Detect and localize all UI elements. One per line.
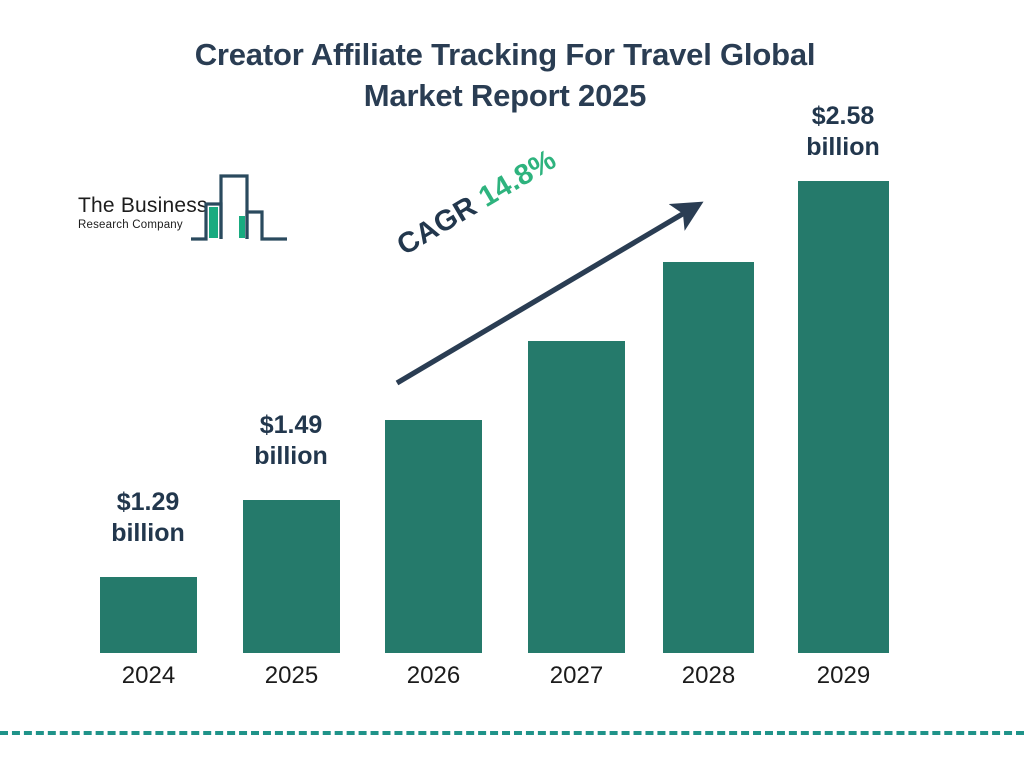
value-label-2025-amount: $1.49	[221, 410, 361, 441]
bar-2025	[243, 500, 340, 653]
bar-chart-plot: $1.29 billion $1.49 billion $2.58 billio…	[0, 0, 1024, 768]
xtick-2026: 2026	[383, 662, 484, 690]
bar-2029	[798, 181, 889, 653]
value-label-2029: $2.58 billion	[773, 101, 913, 164]
footer-divider	[0, 731, 1024, 735]
xtick-2029: 2029	[793, 662, 894, 690]
xtick-2028: 2028	[658, 662, 759, 690]
value-label-2029-unit: billion	[773, 132, 913, 163]
bar-2026	[385, 420, 482, 653]
xtick-2024: 2024	[98, 662, 199, 690]
value-label-2024-unit: billion	[78, 518, 218, 549]
value-label-2025-unit: billion	[221, 441, 361, 472]
value-label-2025: $1.49 billion	[221, 410, 361, 473]
value-label-2024: $1.29 billion	[78, 487, 218, 550]
value-label-2029-amount: $2.58	[773, 101, 913, 132]
bar-2024	[100, 577, 197, 653]
xtick-2025: 2025	[241, 662, 342, 690]
value-label-2024-amount: $1.29	[78, 487, 218, 518]
xtick-2027: 2027	[526, 662, 627, 690]
chart-canvas: Creator Affiliate Tracking For Travel Gl…	[0, 0, 1024, 768]
